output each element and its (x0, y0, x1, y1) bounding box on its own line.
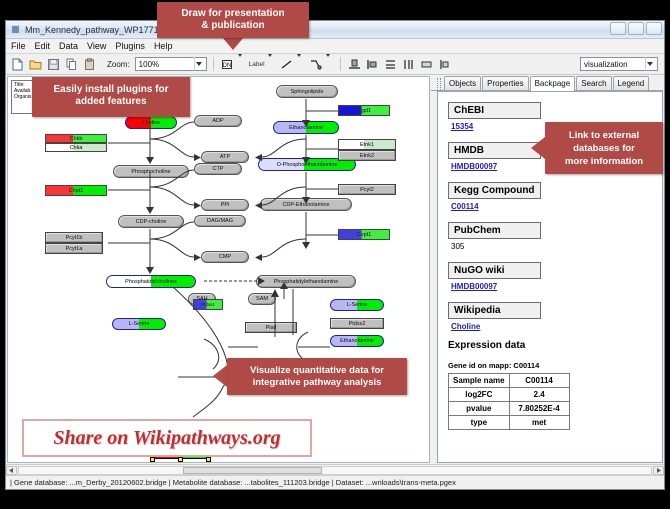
open-folder-icon[interactable] (28, 57, 43, 72)
label-tool-text[interactable]: Label (249, 61, 265, 68)
cell-label: Sample name (449, 374, 510, 388)
callout-link-arrow-icon (531, 137, 545, 159)
tab-backpage[interactable]: Backpage (530, 76, 576, 91)
section-heading-chebi: ChEBI (448, 102, 541, 119)
visualization-dropdown-icon[interactable] (645, 57, 656, 71)
node-label: CMP (219, 254, 231, 260)
node-label: CTP (213, 166, 224, 172)
node-label: Sgpl1 (357, 108, 371, 114)
callout-draw-line1: Draw for presentation (181, 8, 284, 20)
cell-value: met (509, 416, 569, 430)
node-label: Choline (142, 120, 161, 126)
maximize-button[interactable] (628, 22, 644, 35)
minimize-button[interactable] (610, 22, 626, 35)
node-label: DAG/MAG (207, 218, 233, 224)
datanode-tool-icon[interactable]: DN (220, 57, 235, 72)
node-label: CDP-Ethanolamine (282, 202, 329, 208)
node-label: Chkb (70, 136, 83, 142)
node-label: Ptdss1 (201, 302, 215, 307)
menu-data[interactable]: Data (59, 41, 78, 51)
cell-label: type (449, 416, 510, 430)
horizontal-scrollbar[interactable] (6, 464, 664, 475)
callout-link-line1: Link to external (569, 129, 639, 142)
selection-handle[interactable] (206, 457, 211, 462)
menu-file[interactable]: File (11, 41, 26, 51)
node-label: Chka (70, 145, 83, 151)
label-dropdown-icon[interactable] (268, 57, 276, 72)
app-icon (10, 24, 21, 35)
callout-link: Link to external databases for more info… (545, 122, 663, 174)
svg-text:DN: DN (222, 63, 231, 69)
new-file-icon[interactable] (10, 57, 25, 72)
callout-link-line2: databases for (573, 142, 635, 155)
window-titlebar: Mm_Kennedy_pathway_WP1771_45176.gpml (6, 21, 664, 39)
zoom-value: 100% (139, 60, 159, 69)
visualization-combobox[interactable]: visualization (580, 57, 658, 71)
table-row: type met (449, 416, 570, 430)
selection-handle[interactable] (178, 457, 183, 462)
menu-edit[interactable]: Edit (35, 41, 51, 51)
menu-bar: File Edit Data View Plugins Help (6, 39, 664, 54)
node-label: Etnk2 (360, 153, 374, 159)
line-dropdown-icon[interactable] (297, 57, 305, 72)
callout-plugins-line1: Easily install plugins for (53, 84, 168, 96)
status-text: | Gene database: ...m_Derby_20120602.bri… (10, 478, 456, 487)
menu-help[interactable]: Help (154, 41, 173, 51)
link-kegg[interactable]: C00114 (451, 202, 662, 211)
line-tool-icon[interactable] (279, 57, 294, 72)
node-label: ADP (212, 118, 223, 124)
node-label: Chpt1 (69, 188, 84, 194)
zoom-dropdown-icon[interactable] (194, 57, 205, 71)
tab-search[interactable]: Search (576, 76, 611, 90)
callout-plugins-line2: added features (75, 96, 146, 108)
tab-properties[interactable]: Properties (482, 76, 528, 90)
link-nugowiki[interactable]: HMDB00097 (451, 282, 662, 291)
pathway-canvas[interactable]: Title: Availab Organis (7, 76, 430, 463)
sidebar-tabs: Objects Properties Backpage Search Legen… (431, 76, 663, 91)
section-heading-pubchem: PubChem (448, 222, 541, 239)
callout-draw-arrow-icon (222, 37, 244, 50)
copy-icon[interactable] (64, 57, 79, 72)
scrollbar-thumb[interactable] (183, 467, 322, 474)
table-row: log2FC 2.4 (449, 388, 570, 402)
status-bar: | Gene database: ...m_Derby_20120602.bri… (6, 475, 664, 489)
visualization-value: visualization (584, 60, 628, 69)
save-icon[interactable] (46, 57, 61, 72)
section-heading-nugowiki: NuGO wiki (448, 262, 541, 279)
section-heading-wikipedia: Wikipedia (448, 302, 541, 319)
cell-label: log2FC (449, 388, 510, 402)
callout-draw: Draw for presentation & publication (157, 2, 309, 38)
node-label: Phosphatidylethanolamine (274, 279, 339, 285)
scrollbar-track[interactable] (18, 466, 652, 475)
group-icon[interactable] (419, 57, 434, 72)
callout-visualize: Visualize quantitative data for integrat… (227, 358, 407, 395)
toolbar: Zoom: 100% DN Label (6, 54, 664, 75)
menu-plugins[interactable]: Plugins (115, 41, 145, 51)
node-label: Ethanolamine (289, 125, 323, 131)
cell-value: C00114 (509, 374, 569, 388)
callout-visualize-arrow-icon (213, 365, 227, 387)
window-controls[interactable] (610, 22, 662, 35)
value-pubchem: 305 (451, 242, 662, 251)
anchor-dropdown-icon[interactable] (326, 57, 334, 72)
tab-legend[interactable]: Legend (613, 76, 650, 90)
node-label: CDP-choline (136, 219, 167, 225)
cell-value: 7.80252E-4 (509, 402, 569, 416)
tab-objects[interactable]: Objects (444, 76, 481, 90)
datanode-dropdown-icon[interactable] (238, 57, 246, 72)
pathvisio-window: Mm_Kennedy_pathway_WP1771_45176.gpml Fil… (5, 20, 665, 490)
callout-share-box: Share on Wikipathways.org (22, 419, 312, 457)
table-row: Sample name C00114 (449, 374, 570, 388)
paste-icon[interactable] (82, 57, 97, 72)
callout-plugins: Easily install plugins for added feature… (32, 76, 190, 117)
callout-link-line3: more information (565, 155, 643, 168)
section-heading-kegg: Kegg Compound (448, 182, 541, 199)
zoom-combobox[interactable]: 100% (135, 57, 207, 71)
tab-grip-handle[interactable] (437, 78, 441, 90)
cell-label: pvalue (449, 402, 510, 416)
node-label: Phosphocholine (131, 169, 170, 175)
callout-share-text: Share on Wikipathways.org (53, 427, 280, 450)
node-label: Phosphatidylcholines (125, 279, 177, 285)
node-label: O-Phosphoethanolamine (277, 162, 338, 168)
node-label: ATP (220, 154, 230, 160)
callout-visualize-line1: Visualize quantitative data for (250, 365, 384, 377)
selection-handle[interactable] (150, 457, 155, 462)
node-label: L-Serine (347, 302, 368, 308)
cell-value: 2.4 (509, 388, 569, 402)
node-label: Pcyt1a (66, 246, 83, 252)
link-wikipedia[interactable]: Choline (451, 322, 662, 331)
node-label: Pisd (266, 325, 277, 331)
scroll-right-icon[interactable] (653, 466, 664, 475)
node-label: Pcyt1b (66, 235, 83, 241)
gene-id-line: Gene id on mapp: C00114 (448, 361, 662, 370)
section-heading-hmdb: HMDB (448, 142, 541, 159)
align-bottom-icon[interactable] (347, 57, 362, 72)
node-label: Sphingolipids (291, 89, 324, 95)
callout-visualize-line2: integrative pathway analysis (253, 377, 382, 389)
node-label: SAM (256, 296, 268, 302)
zoom-label: Zoom: (107, 60, 130, 69)
toolbar-separator (213, 57, 214, 71)
expression-data-title: Expression data (448, 340, 662, 351)
distribute-horizontal-icon[interactable] (401, 57, 416, 72)
close-button[interactable] (646, 22, 662, 35)
pathway-drawing: Title: Availab Organis (8, 77, 429, 462)
align-left-icon[interactable] (365, 57, 380, 72)
toolbar-separator-2 (340, 57, 341, 71)
node-label: Ethanolamine (340, 338, 374, 344)
node-label: Pcyt2 (360, 187, 374, 193)
node-label: PPi (221, 202, 230, 208)
node-label: L-Serine (129, 321, 150, 327)
node-label: Etnk1 (360, 142, 374, 148)
anchor-tool-icon[interactable] (308, 57, 323, 72)
order-icon[interactable] (437, 57, 452, 72)
table-row: pvalue 7.80252E-4 (449, 402, 570, 416)
node-label: Ptdss2 (349, 321, 366, 327)
scroll-left-icon[interactable] (6, 466, 17, 475)
menu-view[interactable]: View (87, 41, 106, 51)
distribute-vertical-icon[interactable] (383, 57, 398, 72)
expression-table: Sample name C00114 log2FC 2.4 pvalue 7.8… (448, 373, 570, 430)
node-label: Cept1 (357, 232, 372, 238)
callout-draw-line2: & publication (201, 20, 264, 32)
